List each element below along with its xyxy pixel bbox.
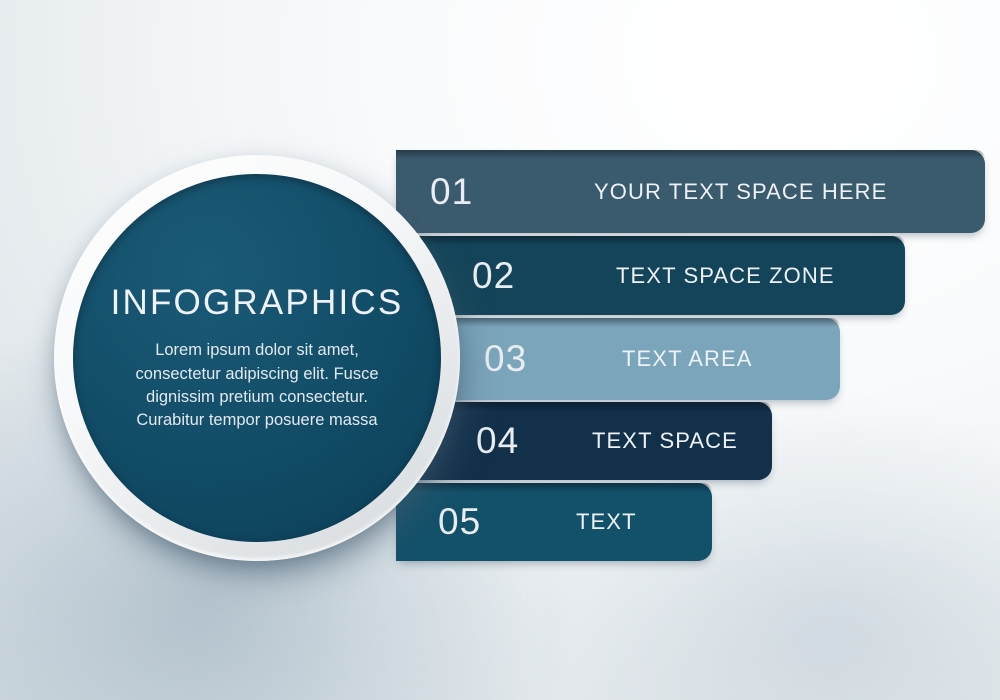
bar-item-05[interactable]: 05TEXT xyxy=(396,483,712,561)
bar-label: TEXT SPACE xyxy=(592,428,738,454)
bar-number: 02 xyxy=(472,255,515,297)
bar-number: 01 xyxy=(430,171,473,213)
bar-top-shading xyxy=(396,236,905,245)
bar-label: TEXT xyxy=(576,509,637,535)
bar-item-01[interactable]: 01YOUR TEXT SPACE HERE xyxy=(396,150,985,233)
bar-item-04[interactable]: 04TEXT SPACE xyxy=(396,402,772,480)
bar-number: 03 xyxy=(484,338,527,380)
bar-label: YOUR TEXT SPACE HERE xyxy=(594,179,887,205)
bar-number: 04 xyxy=(476,420,519,462)
bar-label: TEXT SPACE ZONE xyxy=(616,263,835,289)
bar-item-03[interactable]: 03TEXT AREA xyxy=(396,318,840,400)
bar-top-shading xyxy=(396,483,712,492)
circle-description: Lorem ipsum dolor sit amet, consectetur … xyxy=(126,339,388,433)
infographic-canvas: 01YOUR TEXT SPACE HERE02TEXT SPACE ZONE0… xyxy=(0,0,1000,700)
page-title: INFOGRAPHICS xyxy=(111,283,404,323)
circle-face: INFOGRAPHICS Lorem ipsum dolor sit amet,… xyxy=(73,174,441,542)
bar-label: TEXT AREA xyxy=(622,346,753,372)
bar-number: 05 xyxy=(438,501,481,543)
circle-white-ring: INFOGRAPHICS Lorem ipsum dolor sit amet,… xyxy=(54,155,460,561)
bar-item-02[interactable]: 02TEXT SPACE ZONE xyxy=(396,236,905,315)
bar-top-shading xyxy=(396,318,840,327)
bar-top-shading xyxy=(396,150,985,159)
